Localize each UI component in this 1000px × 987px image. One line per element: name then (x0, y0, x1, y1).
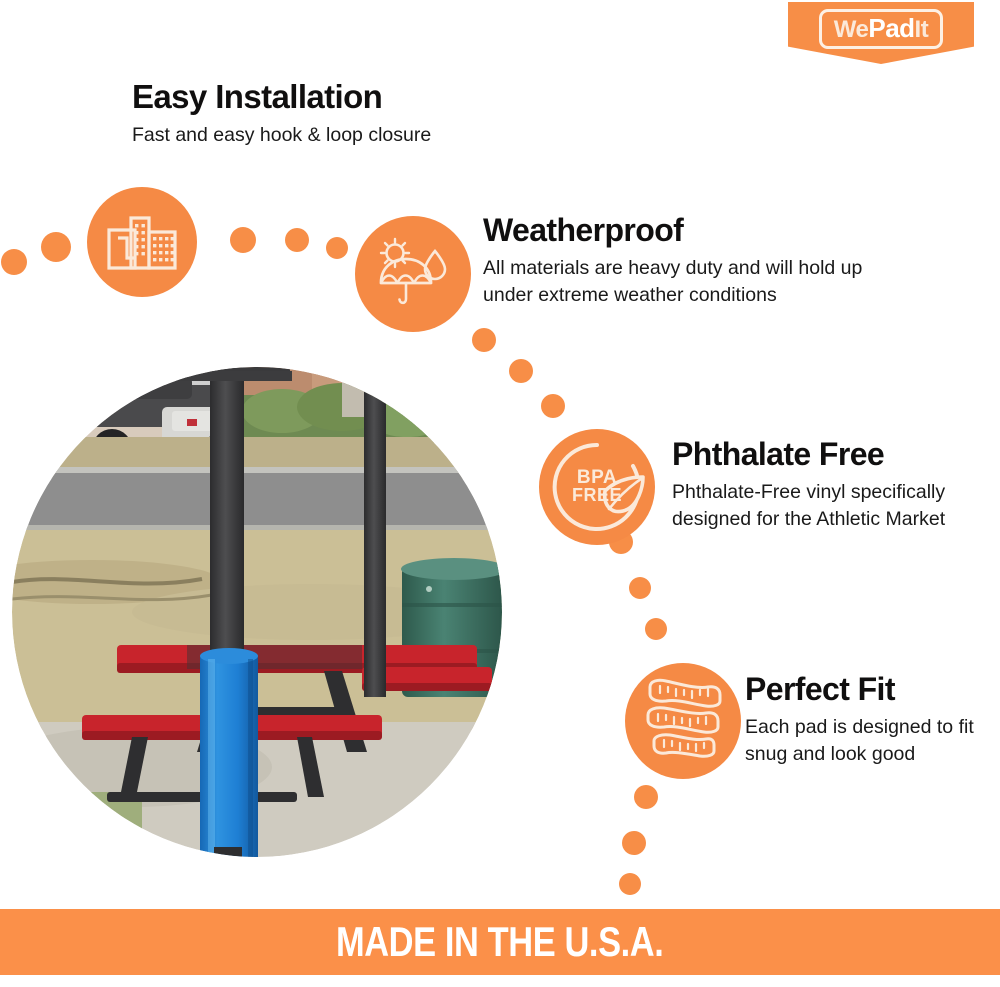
trail-dot (1, 249, 27, 275)
bpa-free-leaf-icon: BPA FREE (539, 429, 655, 545)
trail-dot (230, 227, 256, 253)
trail-dot (645, 618, 667, 640)
feature-title-phthalate-free: Phthalate Free (672, 437, 982, 472)
building-icon (87, 187, 197, 297)
feature-block-perfect-fit: Perfect Fit Each pad is designed to fit … (745, 672, 985, 769)
sun-umbrella-raindrop-icon (355, 216, 471, 332)
made-in-usa-text: MADE IN THE U.S.A. (336, 918, 663, 966)
feature-title-weatherproof: Weatherproof (483, 213, 913, 248)
feature-block-easy-installation: Easy Installation Fast and easy hook & l… (132, 79, 562, 149)
trail-dot (472, 328, 496, 352)
logo-text-pad: Pad (868, 15, 914, 41)
trail-dot (619, 873, 641, 895)
logo-text-it: It (915, 18, 929, 42)
logo-text-we: We (834, 18, 869, 42)
trail-dot (629, 577, 651, 599)
trail-dot (622, 831, 646, 855)
trail-dot (285, 228, 309, 252)
feature-description-phthalate-free: Phthalate-Free vinyl specifically design… (672, 479, 982, 534)
trail-dot (326, 237, 348, 259)
trail-dot (541, 394, 565, 418)
feature-title-perfect-fit: Perfect Fit (745, 672, 985, 707)
feature-description-weatherproof: All materials are heavy duty and will ho… (483, 255, 913, 310)
trail-dot (634, 785, 658, 809)
feature-title-easy-installation: Easy Installation (132, 79, 562, 115)
product-photo-circle (12, 367, 502, 857)
measuring-tape-icon (625, 663, 741, 779)
feature-block-phthalate-free: Phthalate Free Phthalate-Free vinyl spec… (672, 437, 982, 534)
brand-logo-badge: We Pad It (788, 2, 974, 64)
feature-block-weatherproof: Weatherproof All materials are heavy dut… (483, 213, 913, 310)
feature-description-easy-installation: Fast and easy hook & loop closure (132, 122, 562, 150)
trail-dot (509, 359, 533, 383)
product-features-infographic: We Pad It Easy Installation Fast and eas… (0, 0, 1000, 987)
trail-dot (41, 232, 71, 262)
brand-logo-frame: We Pad It (819, 9, 943, 49)
made-in-usa-banner: MADE IN THE U.S.A. (0, 909, 1000, 975)
feature-description-perfect-fit: Each pad is designed to fit snug and loo… (745, 714, 985, 769)
